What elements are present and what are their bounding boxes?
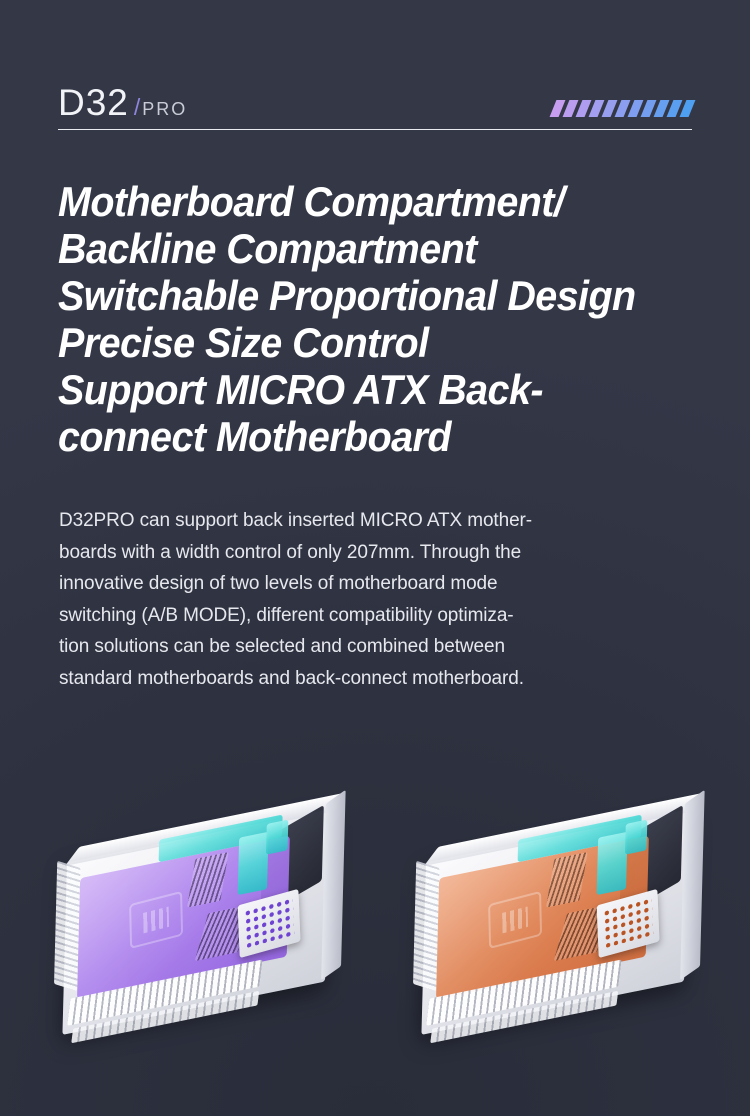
description-line-5: standard motherboards and back-connect m… bbox=[59, 663, 699, 695]
backline-riser bbox=[238, 832, 269, 895]
cpu-socket-motif bbox=[129, 891, 183, 949]
page-title-line-0: Motherboard Compartment/ bbox=[58, 178, 686, 225]
case-front-mesh bbox=[54, 861, 80, 991]
brand-name: D32 bbox=[58, 84, 129, 121]
decorative-stripes bbox=[553, 100, 692, 117]
brand-separator: / bbox=[134, 96, 140, 119]
backline-tab bbox=[625, 820, 647, 855]
backline-tab bbox=[266, 820, 288, 855]
product-marketing-page: D32 / PRO Motherboard Compartment/Backli… bbox=[0, 0, 750, 1116]
description-line-1: boards with a width control of only 207m… bbox=[59, 537, 699, 569]
cpu-socket-motif bbox=[488, 891, 542, 949]
brand-logo: D32 / PRO bbox=[58, 84, 187, 121]
case-chassis bbox=[62, 809, 329, 1035]
product-figure-mode-b: 25mm 背线仓 166mm 主板/显卡仓 bbox=[375, 720, 750, 1116]
product-figure-mode-a: 19mm 背线仓 172mm 主板/显卡仓 bbox=[0, 720, 375, 1116]
description-line-0: D32PRO can support back inserted MICRO A… bbox=[59, 505, 699, 537]
case-side-panel bbox=[321, 790, 345, 980]
page-header: D32 / PRO bbox=[58, 72, 692, 130]
page-title-line-5: connect Motherboard bbox=[58, 413, 686, 460]
page-title-line-3: Precise Size Control bbox=[58, 319, 686, 366]
case-chassis bbox=[421, 809, 688, 1035]
description-line-4: tion solutions can be selected and combi… bbox=[59, 631, 699, 663]
backline-riser bbox=[597, 832, 628, 895]
description-line-2: innovative design of two levels of mothe… bbox=[59, 568, 699, 600]
brand-variant: PRO bbox=[142, 100, 187, 118]
page-title: Motherboard Compartment/Backline Compart… bbox=[58, 178, 686, 460]
product-comparison: 19mm 背线仓 172mm 主板/显卡仓 bbox=[0, 720, 750, 1116]
vent-holes bbox=[244, 897, 295, 949]
case-side-panel bbox=[680, 790, 704, 980]
page-title-line-4: Support MICRO ATX Back- bbox=[58, 366, 686, 413]
stripe-10 bbox=[680, 100, 696, 117]
page-title-line-2: Switchable Proportional Design bbox=[58, 272, 686, 319]
page-title-line-1: Backline Compartment bbox=[58, 225, 686, 272]
description-line-3: switching (A/B MODE), different compatib… bbox=[59, 600, 699, 632]
description-paragraph: D32PRO can support back inserted MICRO A… bbox=[59, 505, 699, 694]
case-front-mesh bbox=[413, 861, 439, 991]
header-divider bbox=[58, 129, 692, 130]
vent-holes bbox=[603, 897, 654, 949]
